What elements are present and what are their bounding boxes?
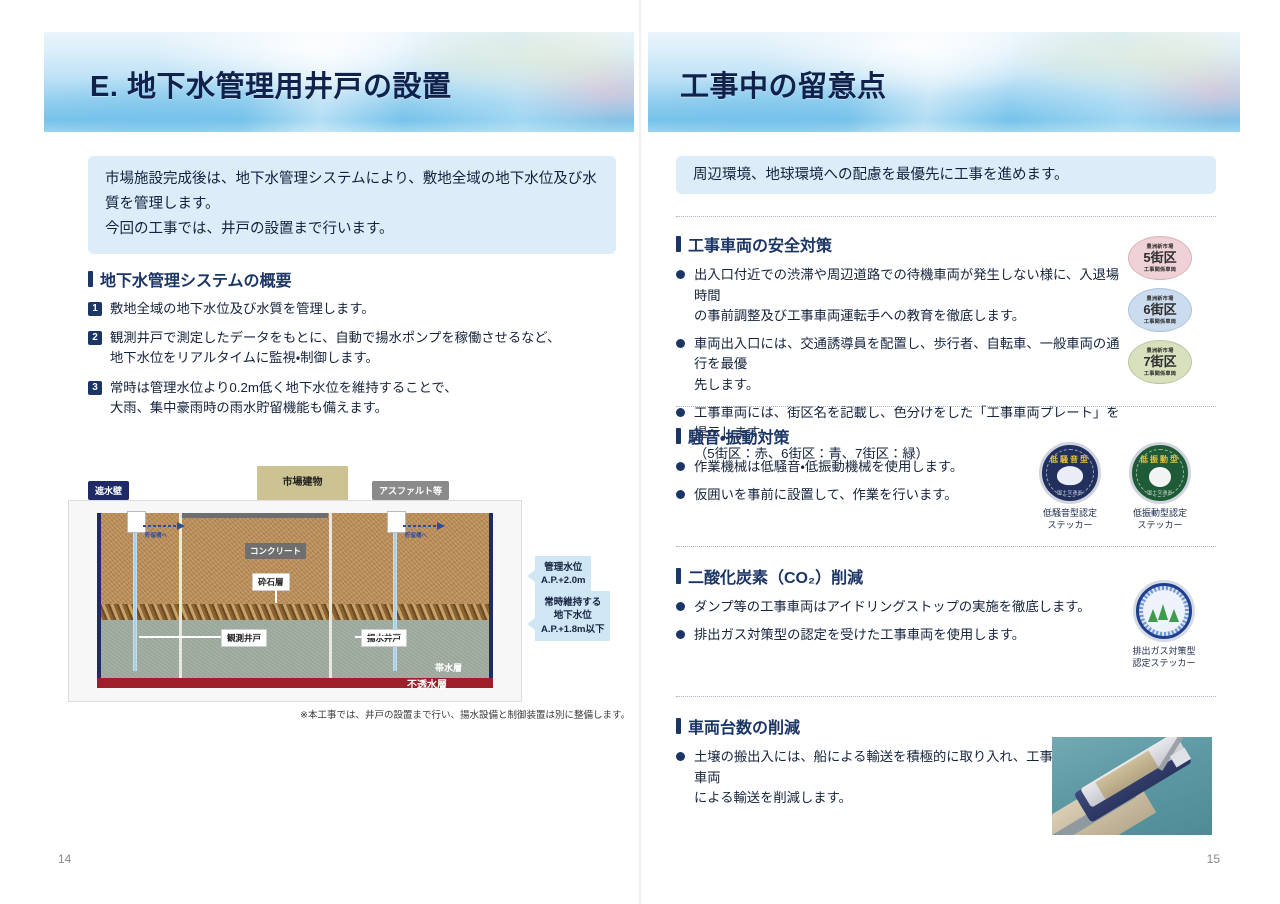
- sticker-caption: 低振動型認定 ステッカー: [1126, 507, 1194, 531]
- bullet-list: 土壌の搬出入には、船による輸送を積極的に取り入れ、工事車両 による輸送を削減しま…: [676, 747, 1062, 809]
- list-item: 車両出入口には、交通誘導員を配置し、歩行者、自転車、一般車両の通行を最優 先しま…: [676, 334, 1120, 396]
- bullet-dot-icon: [676, 270, 685, 279]
- plate-bottom-label: 工事関係車両: [1144, 370, 1176, 377]
- page-number-left: 14: [58, 852, 71, 866]
- plate-bottom-label: 工事関係車両: [1144, 266, 1176, 273]
- flow-arrow-right-icon: [403, 521, 447, 531]
- section-heading-label: 騒音・振動対策: [688, 424, 789, 448]
- plate-bottom-label: 工事関係車両: [1144, 318, 1176, 325]
- list-number-badge: 3: [88, 381, 102, 395]
- leader-line-crushed-stone: [270, 587, 282, 605]
- bullet-text: 作業機械は低騒音・低振動機械を使用します。: [694, 457, 963, 478]
- sticker-kanji: 低振動型: [1132, 454, 1188, 465]
- diagram-footnote: ※本工事では、井戸の設置まで行い、揚水設備と制御装置は別に整備します。: [300, 707, 630, 721]
- flow-arrow-left-icon: [143, 521, 187, 531]
- bullet-dot-icon: [676, 339, 685, 348]
- bullet-list: 作業機械は低騒音・低振動機械を使用します。 仮囲いを事前に設置して、作業を行いま…: [676, 457, 1076, 505]
- list-item: 作業機械は低騒音・低振動機械を使用します。: [676, 457, 1076, 478]
- callout-pointer-control-level: [527, 570, 535, 582]
- tree-icon: [1169, 609, 1179, 622]
- diagram-label-barrier-wall: 遮水壁: [88, 481, 129, 500]
- bullet-text: ダンプ等の工事車両はアイドリングストップの実施を徹底します。: [694, 597, 1091, 618]
- divider-dotted: [676, 216, 1216, 217]
- list-number-badge: 2: [88, 331, 102, 345]
- callout-pointer-maintained-level: [527, 618, 535, 630]
- barrier-wall-right: [489, 513, 493, 678]
- list-item: 1 敷地全域の地下水位及び水質を管理します。: [88, 299, 618, 319]
- low-noise-sticker-icon: 低騒音型 国土交通省: [1039, 442, 1101, 504]
- callout-maintained-water-level: 常時維持する 地下水位 A.P.+1.8m以下: [535, 591, 610, 641]
- emission-control-sticker-icon: [1133, 580, 1195, 642]
- section-heading: 二酸化炭素（CO₂）削減: [676, 564, 1096, 588]
- list-item-text: 常時は管理水位より0.2m低く地下水位を維持することで、 大雨、集中豪雨時の雨水…: [110, 378, 458, 418]
- diagram-canvas: 貯留槽へ 貯留槽へ コンクリート 砕石層 観測井戸 揚水井戸: [97, 513, 493, 688]
- diagram-divider: [179, 513, 182, 678]
- list-item-text: 敷地全域の地下水位及び水質を管理します。: [110, 299, 375, 319]
- vehicle-plate-block-6: 豊洲新市場 6街区 工事関係車両: [1128, 288, 1192, 332]
- bullet-dot-icon: [676, 408, 685, 417]
- section-vehicle-count-reduction: 車両台数の削減 土壌の搬出入には、船による輸送を積極的に取り入れ、工事車両 によ…: [676, 714, 1062, 816]
- section-heading-label: 工事車両の安全対策: [688, 232, 832, 256]
- observation-well-pipe: [133, 513, 137, 671]
- bullet-text: 排出ガス対策型の認定を受けた工事車両を使用します。: [694, 625, 1025, 646]
- leader-line-pumping-well: [355, 633, 401, 641]
- list-item: 土壌の搬出入には、船による輸送を積極的に取り入れ、工事車両 による輸送を削減しま…: [676, 747, 1062, 809]
- section-bar-icon: [676, 568, 681, 584]
- list-item: 排出ガス対策型の認定を受けた工事車両を使用します。: [676, 625, 1096, 646]
- left-intro-text: 市場施設完成後は、地下水管理システムにより、敷地全域の地下水位及び水質を管理しま…: [105, 171, 597, 237]
- section-co2-reduction: 二酸化炭素（CO₂）削減 ダンプ等の工事車両はアイドリングストップの実施を徹底し…: [676, 564, 1096, 652]
- bullet-text: 土壌の搬出入には、船による輸送を積極的に取り入れ、工事車両 による輸送を削減しま…: [694, 747, 1062, 809]
- barrier-wall-left: [97, 513, 101, 678]
- left-intro-callout: 市場施設完成後は、地下水管理システムにより、敷地全域の地下水位及び水質を管理しま…: [88, 156, 616, 254]
- page-right: 工事中の留意点 周辺環境、地球環境への配慮を最優先に工事を進めます。 工事車両の…: [640, 0, 1280, 904]
- bullet-list: ダンプ等の工事車両はアイドリングストップの実施を徹底します。 排出ガス対策型の認…: [676, 597, 1096, 645]
- bullet-dot-icon: [676, 752, 685, 761]
- section-heading-groundwater-overview: 地下水管理システムの概要: [88, 267, 292, 291]
- leader-line-observation-well: [139, 633, 223, 641]
- groundwater-cross-section-diagram: 貯留槽へ 貯留槽へ コンクリート 砕石層 観測井戸 揚水井戸: [68, 500, 522, 702]
- sticker-subtext: 国土交通省: [1132, 490, 1188, 496]
- vehicle-plate-block-5: 豊洲新市場 5街区 工事関係車両: [1128, 236, 1192, 280]
- page-left: E. 地下水管理用井戸の設置 市場施設完成後は、地下水管理システムにより、敷地全…: [0, 0, 640, 904]
- sticker-low-vibration: 低振動型 国土交通省 低振動型認定 ステッカー: [1126, 442, 1194, 531]
- list-item: 3 常時は管理水位より0.2m低く地下水位を維持することで、 大雨、集中豪雨時の…: [88, 378, 618, 418]
- tree-icon: [1158, 604, 1168, 620]
- sticker-low-noise: 低騒音型 国土交通省 低騒音型認定 ステッカー: [1036, 442, 1104, 531]
- section-noise-vibration: 騒音・振動対策 作業機械は低騒音・低振動機械を使用します。 仮囲いを事前に設置し…: [676, 424, 1076, 512]
- diagram-label-concrete: コンクリート: [245, 543, 306, 559]
- layer-aquifer: [97, 620, 493, 678]
- plate-block-label: 5街区: [1143, 251, 1176, 266]
- section-heading-label: 二酸化炭素（CO₂）削減: [688, 564, 863, 588]
- diagram-label-observation-well: 観測井戸: [221, 629, 267, 647]
- sticker-subtext: 国土交通省: [1042, 490, 1098, 496]
- diagram-divider: [329, 513, 332, 678]
- diagram-label-asphalt: アスファルト等: [372, 481, 449, 500]
- bullet-text: 出入口付近での渋滞や周辺道路での待機車両が発生しない様に、入退場時間 の事前調整…: [694, 265, 1120, 327]
- list-item: 仮囲いを事前に設置して、作業を行います。: [676, 485, 1076, 506]
- label-to-storage-tank-right: 貯留槽へ: [405, 531, 427, 539]
- soil-strata: [97, 513, 493, 688]
- diagram-label-impermeable: 不透水層: [407, 676, 447, 691]
- document-spread: E. 地下水管理用井戸の設置 市場施設完成後は、地下水管理システムにより、敷地全…: [0, 0, 1280, 904]
- barge-transport-photo: [1052, 737, 1212, 835]
- bullet-text: 仮囲いを事前に設置して、作業を行います。: [694, 485, 958, 506]
- right-intro-text: 周辺環境、地球環境への配慮を最優先に工事を進めます。: [693, 163, 1069, 188]
- bullet-dot-icon: [676, 462, 685, 471]
- groundwater-overview-list: 1 敷地全域の地下水位及び水質を管理します。 2 観測井戸で測定したデータをもと…: [88, 299, 618, 427]
- plate-block-label: 6街区: [1143, 303, 1176, 318]
- callout-control-water-level: 管理水位 A.P.+2.0m: [535, 556, 591, 593]
- sticker-caption: 排出ガス対策型 認定ステッカー: [1126, 645, 1202, 669]
- section-bar-icon: [676, 718, 681, 734]
- bullet-dot-icon: [676, 630, 685, 639]
- bullet-text: 車両出入口には、交通誘導員を配置し、歩行者、自転車、一般車両の通行を最優 先しま…: [694, 334, 1120, 396]
- list-item: 出入口付近での渋滞や周辺道路での待機車両が発生しない様に、入退場時間 の事前調整…: [676, 265, 1120, 327]
- low-vibration-sticker-icon: 低振動型 国土交通省: [1129, 442, 1191, 504]
- right-page-title: 工事中の留意点: [680, 63, 887, 105]
- section-heading: 工事車両の安全対策: [676, 232, 1120, 256]
- list-item: 2 観測井戸で測定したデータをもとに、自動で揚水ポンプを稼働させるなど、 地下水…: [88, 328, 618, 368]
- diagram-label-aquifer: 帯水層: [435, 661, 462, 674]
- section-heading: 車両台数の削減: [676, 714, 1062, 738]
- bullet-dot-icon: [676, 490, 685, 499]
- divider-dotted: [676, 406, 1216, 407]
- section-heading-label: 地下水管理システムの概要: [100, 267, 292, 291]
- bullet-dot-icon: [676, 602, 685, 611]
- section-bar-icon: [88, 271, 93, 287]
- section-bar-icon: [676, 236, 681, 252]
- right-intro-callout: 周辺環境、地球環境への配慮を最優先に工事を進めます。: [676, 156, 1216, 194]
- sticker-face-icon: [1149, 467, 1171, 487]
- list-item: ダンプ等の工事車両はアイドリングストップの実施を徹底します。: [676, 597, 1096, 618]
- list-number-badge: 1: [88, 302, 102, 316]
- section-heading: 騒音・振動対策: [676, 424, 1076, 448]
- layer-concrete-slab: [182, 513, 328, 518]
- sticker-caption: 低騒音型認定 ステッカー: [1036, 507, 1104, 531]
- divider-dotted: [676, 696, 1216, 697]
- sticker-face-icon: [1057, 466, 1083, 485]
- page-number-right: 15: [1207, 852, 1220, 866]
- sticker-kanji: 低騒音型: [1042, 454, 1098, 465]
- section-heading-label: 車両台数の削減: [688, 714, 800, 738]
- vehicle-plate-block-7: 豊洲新市場 7街区 工事関係車両: [1128, 340, 1192, 384]
- plate-block-label: 7街区: [1143, 355, 1176, 370]
- section-bar-icon: [676, 428, 681, 444]
- diagram-label-building: 市場建物: [257, 466, 348, 500]
- tree-icon: [1148, 609, 1158, 622]
- left-page-title: E. 地下水管理用井戸の設置: [90, 63, 451, 105]
- layer-crushed-stone: [97, 604, 493, 620]
- sticker-emission-control: 排出ガス対策型 認定ステッカー: [1126, 580, 1202, 669]
- divider-dotted: [676, 546, 1216, 547]
- label-to-storage-tank-left: 貯留槽へ: [145, 531, 167, 539]
- list-item-text: 観測井戸で測定したデータをもとに、自動で揚水ポンプを稼働させるなど、 地下水位を…: [110, 328, 560, 368]
